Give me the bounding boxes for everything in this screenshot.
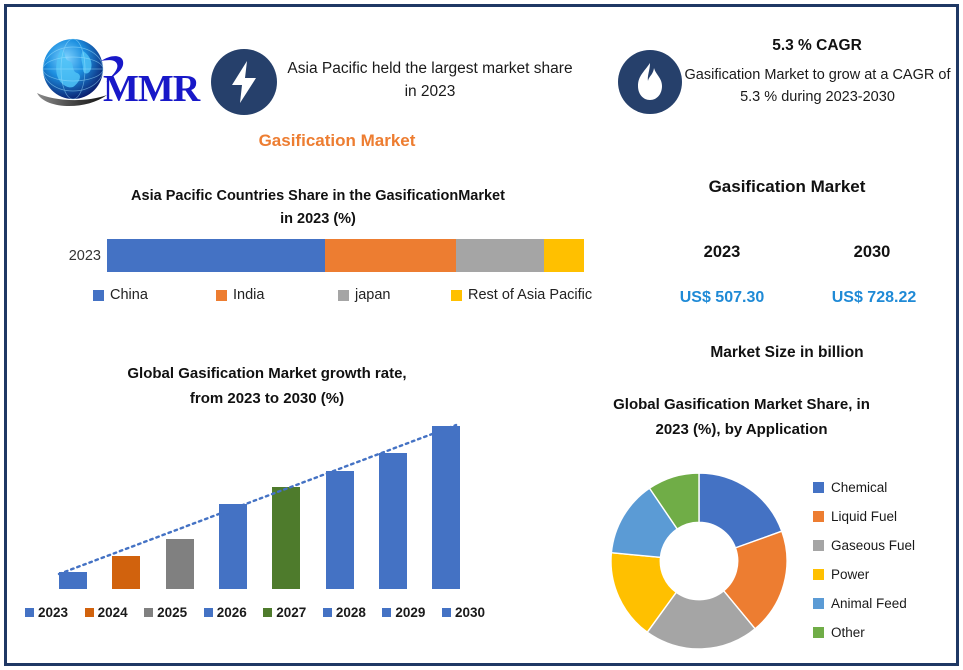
legend-swatch-icon	[93, 290, 104, 301]
legend-swatch-icon	[813, 540, 824, 551]
cagr-detail: Gasification Market to grow at a CAGR of…	[675, 64, 960, 109]
legend-swatch-icon	[323, 608, 332, 617]
legend-label: India	[233, 287, 264, 303]
stacked-chart-axis-label: 2023	[43, 248, 101, 264]
growth-legend-item: 2023	[25, 605, 68, 620]
legend-swatch-icon	[451, 290, 462, 301]
legend-swatch-icon	[144, 608, 153, 617]
legend-label: Power	[831, 567, 869, 582]
growth-chart-trendline	[27, 407, 497, 589]
stacked-chart-title: Asia Pacific Countries Share in the Gasi…	[33, 185, 603, 231]
growth-chart-title-line1: Global Gasification Market growth rate,	[33, 362, 501, 387]
legend-swatch-icon	[813, 627, 824, 638]
legend-swatch-icon	[85, 608, 94, 617]
legend-label: Chemical	[831, 480, 887, 495]
stacked-legend-item: Rest of Asia Pacific	[451, 287, 592, 303]
growth-legend-item: 2030	[442, 605, 485, 620]
growth-chart-plot	[27, 407, 497, 589]
donut-legend-item: Gaseous Fuel	[813, 531, 963, 560]
legend-label: 2027	[276, 605, 306, 620]
legend-swatch-icon	[813, 482, 824, 493]
stacked-bar-segment	[456, 239, 544, 272]
asia-pacific-note: Asia Pacific held the largest market sha…	[285, 57, 575, 104]
legend-label: 2026	[217, 605, 247, 620]
donut-chart-title-line1: Global Gasification Market Share, in	[569, 393, 914, 418]
legend-label: Animal Feed	[831, 596, 907, 611]
market-size-year-2023: 2023	[662, 243, 782, 262]
growth-legend-item: 2028	[323, 605, 366, 620]
gasification-market-title: Gasification Market	[207, 131, 467, 151]
mmr-logo: MMR	[33, 31, 203, 119]
legend-label: 2023	[38, 605, 68, 620]
market-size-title: Gasification Market	[627, 177, 947, 197]
legend-swatch-icon	[338, 290, 349, 301]
lightning-bolt-badge	[211, 49, 277, 115]
flame-badge	[618, 50, 682, 114]
legend-swatch-icon	[382, 608, 391, 617]
stacked-legend-item: japan	[338, 287, 390, 303]
legend-swatch-icon	[204, 608, 213, 617]
stacked-chart-title-line2: in 2023 (%)	[33, 208, 603, 231]
legend-label: japan	[355, 287, 390, 303]
growth-legend-item: 2026	[204, 605, 247, 620]
stacked-legend-item: China	[93, 287, 148, 303]
legend-label: Rest of Asia Pacific	[468, 287, 592, 303]
flame-icon	[635, 62, 665, 102]
market-size-caption: Market Size in billion	[627, 344, 947, 362]
legend-label: 2024	[98, 605, 128, 620]
donut-chart-title: Global Gasification Market Share, in 202…	[569, 393, 914, 443]
donut-chart-title-line2: 2023 (%), by Application	[569, 418, 914, 443]
stacked-chart-legend: ChinaIndiajapanRest of Asia Pacific	[93, 285, 603, 305]
legend-swatch-icon	[813, 511, 824, 522]
legend-label: 2030	[455, 605, 485, 620]
infographic-root: MMR Asia Pacific held the largest market…	[0, 0, 963, 670]
infographic-frame: MMR Asia Pacific held the largest market…	[4, 4, 959, 666]
cagr-headline: 5.3 % CAGR	[682, 37, 952, 55]
legend-swatch-icon	[25, 608, 34, 617]
stacked-bar-segment	[544, 239, 584, 272]
growth-legend-item: 2027	[263, 605, 306, 620]
legend-label: China	[110, 287, 148, 303]
legend-swatch-icon	[813, 569, 824, 580]
market-size-value-2023: US$ 507.30	[652, 289, 792, 307]
stacked-bar-segment	[107, 239, 325, 272]
donut-legend-item: Animal Feed	[813, 589, 963, 618]
stacked-chart-title-line1: Asia Pacific Countries Share in the Gasi…	[33, 185, 603, 208]
legend-label: 2028	[336, 605, 366, 620]
market-size-value-2030: US$ 728.22	[804, 289, 944, 307]
growth-chart-legend: 20232024202520262027202820292030	[25, 605, 485, 620]
legend-swatch-icon	[216, 290, 227, 301]
legend-label: Other	[831, 625, 865, 640]
stacked-bar	[107, 239, 584, 272]
legend-label: 2029	[395, 605, 425, 620]
donut-chart-legend: ChemicalLiquid FuelGaseous FuelPowerAnim…	[813, 473, 963, 647]
logo-wordmark: MMR	[103, 67, 199, 111]
legend-swatch-icon	[442, 608, 451, 617]
growth-legend-item: 2024	[85, 605, 128, 620]
legend-label: Gaseous Fuel	[831, 538, 915, 553]
donut-legend-item: Liquid Fuel	[813, 502, 963, 531]
donut-legend-item: Power	[813, 560, 963, 589]
lightning-bolt-icon	[227, 60, 261, 104]
legend-label: 2025	[157, 605, 187, 620]
legend-swatch-icon	[813, 598, 824, 609]
donut-legend-item: Other	[813, 618, 963, 647]
stacked-bar-segment	[325, 239, 456, 272]
donut-chart	[607, 469, 791, 653]
legend-label: Liquid Fuel	[831, 509, 897, 524]
donut-legend-item: Chemical	[813, 473, 963, 502]
stacked-legend-item: India	[216, 287, 264, 303]
growth-legend-item: 2029	[382, 605, 425, 620]
growth-chart-title: Global Gasification Market growth rate, …	[33, 362, 501, 412]
market-size-year-2030: 2030	[812, 243, 932, 262]
growth-legend-item: 2025	[144, 605, 187, 620]
donut-svg	[607, 469, 791, 653]
legend-swatch-icon	[263, 608, 272, 617]
